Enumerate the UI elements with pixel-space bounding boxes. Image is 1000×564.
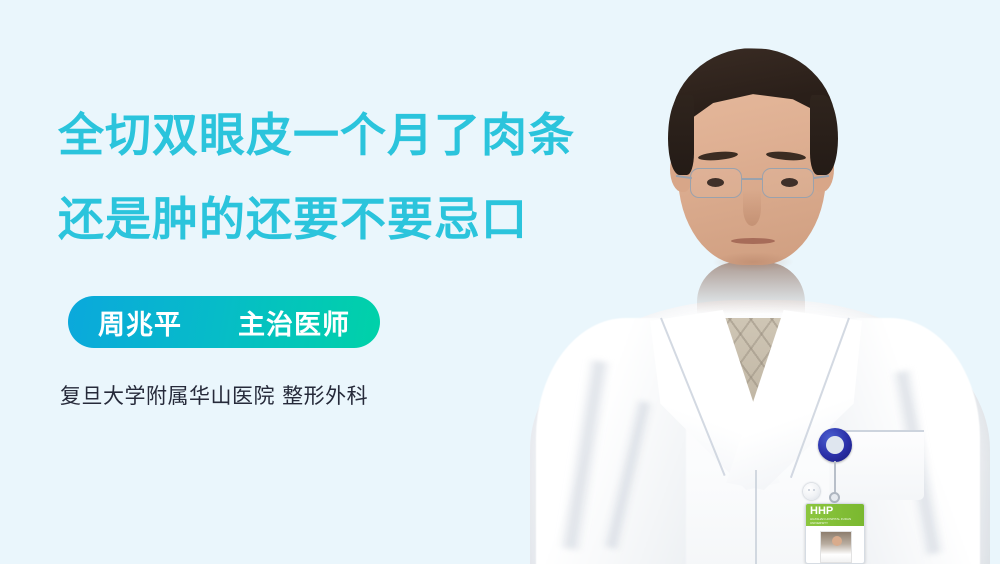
glasses-lens-right [762,168,814,198]
badge-reel-clip [829,492,840,503]
doctor-name-rank-badge: 周兆平 主治医师 [68,296,380,348]
id-badge-photo [820,531,852,563]
lab-coat-placket [755,470,757,564]
hair-sideburn-left [668,95,694,175]
glasses-lens-left [690,168,742,198]
title-line-1: 全切双眼皮一个月了肉条 [58,112,658,158]
hair-sideburn-right [810,95,838,175]
badge-reel-face [826,436,844,454]
id-badge-subtitle-line2: UNIVERSITY [810,521,860,525]
nose [743,190,761,226]
doctor-name-rank-label: 周兆平 主治医师 [98,303,350,342]
doctor-portrait-photo: HHP HUASHAN HOSPITAL FUDAN UNIVERSITY [500,0,1000,564]
glasses-bridge [742,178,762,180]
id-badge-header: HHP HUASHAN HOSPITAL FUDAN UNIVERSITY [806,504,864,526]
doctor-affiliation: 复旦大学附属华山医院 整形外科 [60,380,368,410]
lab-coat-button [803,483,820,500]
id-badge-logo: HHP [810,506,860,517]
chin-shadow [712,252,794,272]
hospital-id-badge: HHP HUASHAN HOSPITAL FUDAN UNIVERSITY [805,503,865,564]
mouth [731,238,775,244]
video-thumbnail-card: HHP HUASHAN HOSPITAL FUDAN UNIVERSITY 全切… [0,0,1000,564]
title-line-2: 还是肿的还要不要忌口 [58,196,658,242]
title-block: 全切双眼皮一个月了肉条 还是肿的还要不要忌口 [58,112,658,242]
